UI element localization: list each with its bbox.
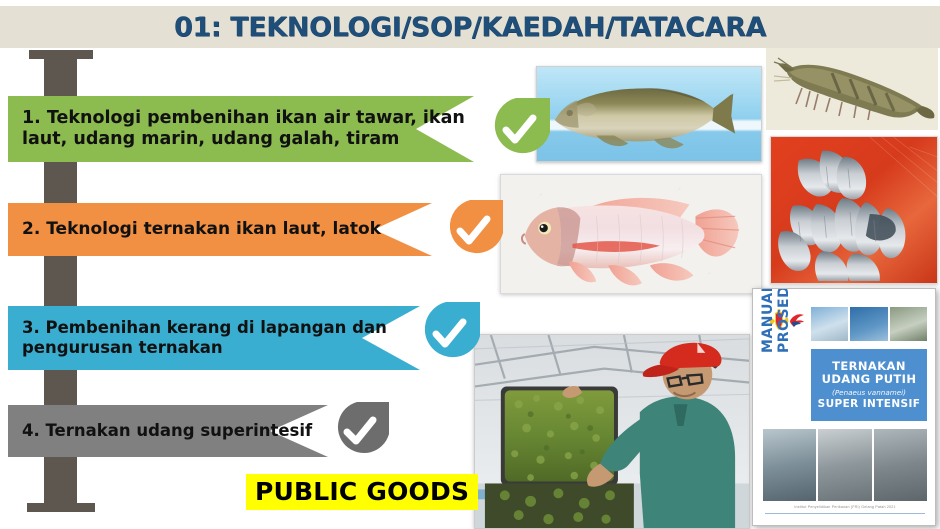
step-banner-4-label: 4. Ternakan udang superintesif xyxy=(8,421,312,441)
manual-bottom-photo-strip xyxy=(763,429,927,501)
public-goods-label: PUBLIC GOODS xyxy=(246,474,478,510)
latok-farmer-photo xyxy=(474,334,750,529)
manual-footer-text: Institut Penyelidikan Perikanan (FRI) Ge… xyxy=(765,505,925,509)
manual-top-photo-strip xyxy=(811,307,927,341)
slide-title-bar: 01: TEKNOLOGI/SOP/KAEDAH/TATACARA xyxy=(0,6,940,48)
manual-title-line2: (Penaeus vannamei) xyxy=(832,388,906,397)
check-badge-icon-1 xyxy=(488,98,550,160)
manual-footer-rule xyxy=(765,513,925,514)
check-badge-icon-3 xyxy=(418,302,480,364)
check-badge-icon-4 xyxy=(331,402,389,460)
page-title: 01: TEKNOLOGI/SOP/KAEDAH/TATACARA xyxy=(174,12,766,43)
step-banner-2-label: 2. Teknologi ternakan ikan laut, latok xyxy=(8,219,381,240)
step-banner-2[interactable]: 2. Teknologi ternakan ikan laut, latok xyxy=(8,203,432,256)
manual-cover-image: MANUAL PROSEDUR TERNAKAN UDANG PUTIH (Pe… xyxy=(752,288,936,526)
manual-title-line3: SUPER INTENSIF xyxy=(818,398,921,410)
banner-notch-2 xyxy=(374,203,432,256)
slide-canvas: 01: TEKNOLOGI/SOP/KAEDAH/TATACARA xyxy=(0,0,940,529)
tiger-prawn-photo xyxy=(766,48,938,130)
manual-title-box: TERNAKAN UDANG PUTIH (Penaeus vannamei) … xyxy=(811,349,927,421)
manual-title-line1: TERNAKAN UDANG PUTIH xyxy=(822,360,917,387)
step-banner-1-label: 1. Teknologi pembenihan ikan air tawar, … xyxy=(8,108,465,151)
step-banner-1[interactable]: 1. Teknologi pembenihan ikan air tawar, … xyxy=(8,96,474,162)
manual-vertical-title: MANUAL PROSEDUR xyxy=(761,288,805,353)
step-banner-4[interactable]: 4. Ternakan udang superintesif xyxy=(8,405,328,457)
signpost-base xyxy=(27,503,95,512)
step-banner-3-label: 3. Pembenihan kerang di lapangan dan pen… xyxy=(8,318,387,358)
step-banner-3[interactable]: 3. Pembenihan kerang di lapangan dan pen… xyxy=(8,306,420,370)
seabass-photo xyxy=(536,66,762,162)
check-badge-icon-2 xyxy=(443,200,503,260)
net-fish-photo xyxy=(770,136,938,284)
red-tilapia-photo xyxy=(500,174,762,294)
